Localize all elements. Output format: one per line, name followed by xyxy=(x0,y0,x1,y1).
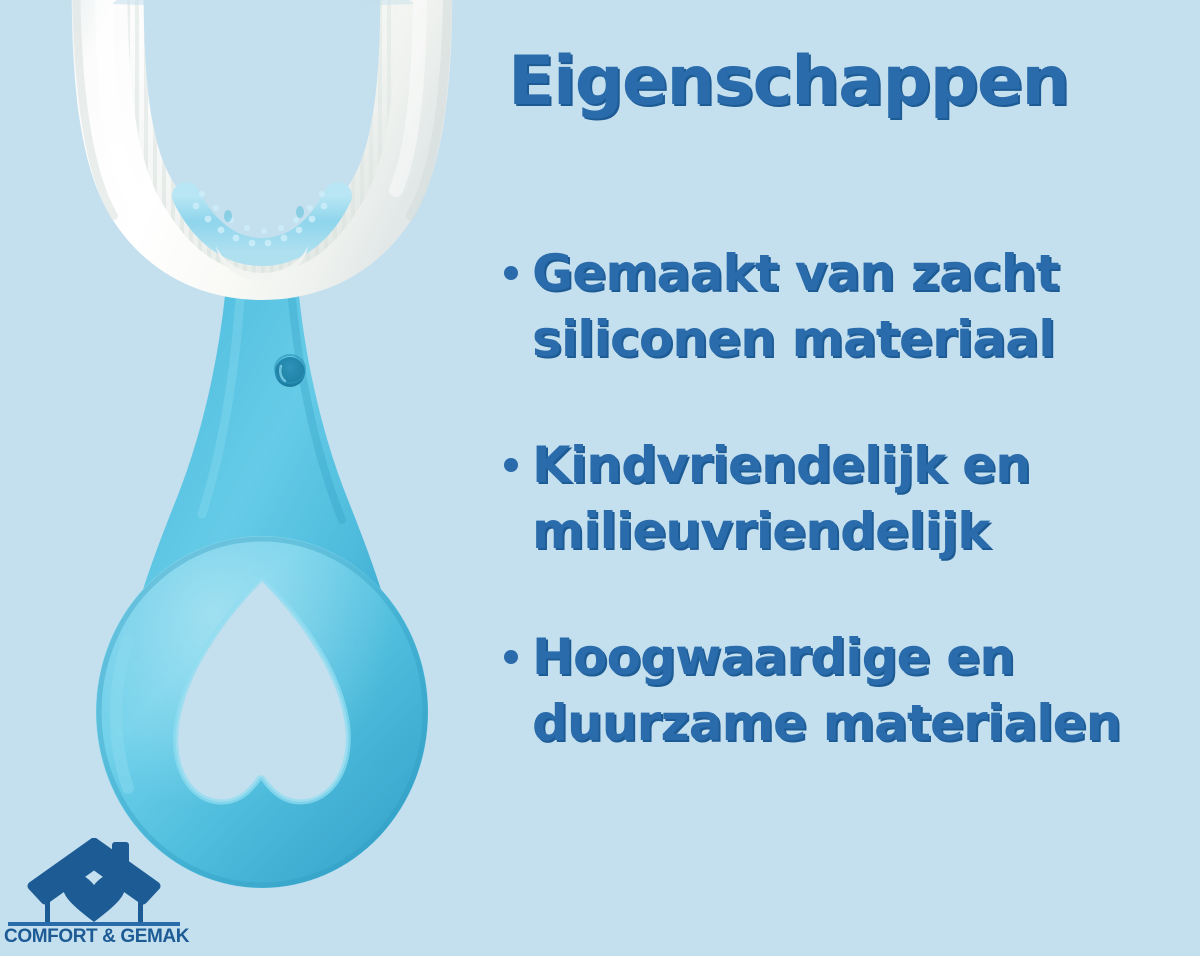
product-handle xyxy=(96,258,428,888)
bullet-dot-icon xyxy=(504,458,518,472)
logo-wordmark: COMFORT & GEMAK xyxy=(4,926,184,948)
list-item: Hoogwaardige en duurzame materialen xyxy=(504,624,1200,756)
house-with-heart-icon xyxy=(4,838,184,926)
list-item: Kindvriendelijk en milieuvriendelijk xyxy=(504,432,1200,564)
feature-list: Gemaakt van zacht siliconen materiaal Ki… xyxy=(504,240,1200,756)
list-item: Gemaakt van zacht siliconen materiaal xyxy=(504,240,1200,372)
product-brush-head xyxy=(72,0,453,300)
brand-logo: COMFORT & GEMAK xyxy=(4,838,184,956)
feature-text: Kindvriendelijk en milieuvriendelijk xyxy=(532,432,1200,564)
feature-text: Hoogwaardige en duurzame materialen xyxy=(532,624,1200,756)
feature-text: Gemaakt van zacht siliconen materiaal xyxy=(532,240,1200,372)
feature-text-column: Eigenschappen Gemaakt van zacht silicone… xyxy=(494,0,1200,956)
bullet-dot-icon xyxy=(504,266,518,280)
brush-accent-strip xyxy=(186,191,338,252)
product-image xyxy=(0,0,490,956)
infographic-canvas: Eigenschappen Gemaakt van zacht silicone… xyxy=(0,0,1200,956)
page-title: Eigenschappen xyxy=(508,48,1068,116)
bullet-dot-icon xyxy=(504,650,518,664)
